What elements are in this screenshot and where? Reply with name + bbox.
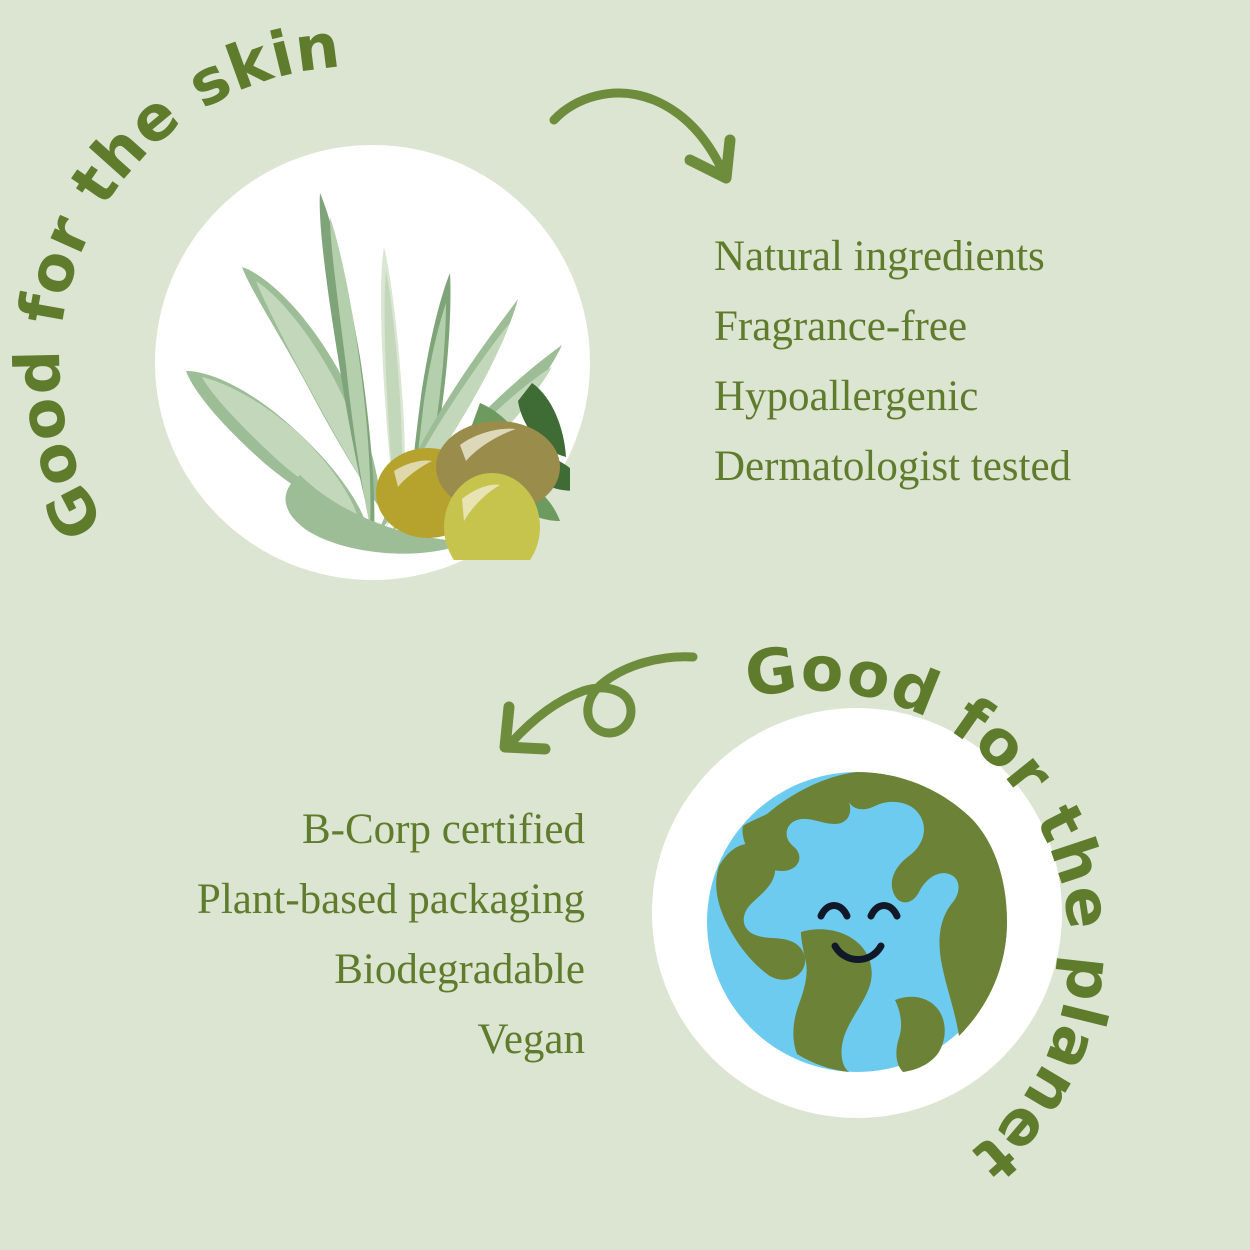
list-item: Biodegradable <box>85 935 585 1005</box>
skin-feature-list: Natural ingredients Fragrance-free Hypoa… <box>714 222 1071 502</box>
arrow-skin-to-features-icon <box>540 62 770 207</box>
aloe-vera-olive-icon <box>180 175 570 560</box>
planet-feature-list: B-Corp certified Plant-based packaging B… <box>85 795 585 1075</box>
list-item: Plant-based packaging <box>85 865 585 935</box>
smiling-earth-icon <box>705 770 1010 1075</box>
list-item: Fragrance-free <box>714 292 1071 362</box>
list-item: Dermatologist tested <box>714 432 1071 502</box>
list-item: Hypoallergenic <box>714 362 1071 432</box>
list-item: Vegan <box>85 1005 585 1075</box>
arrow-planet-to-features-icon <box>485 635 700 780</box>
infographic-canvas: Good for the skin <box>0 0 1250 1250</box>
list-item: Natural ingredients <box>714 222 1071 292</box>
list-item: B-Corp certified <box>85 795 585 865</box>
